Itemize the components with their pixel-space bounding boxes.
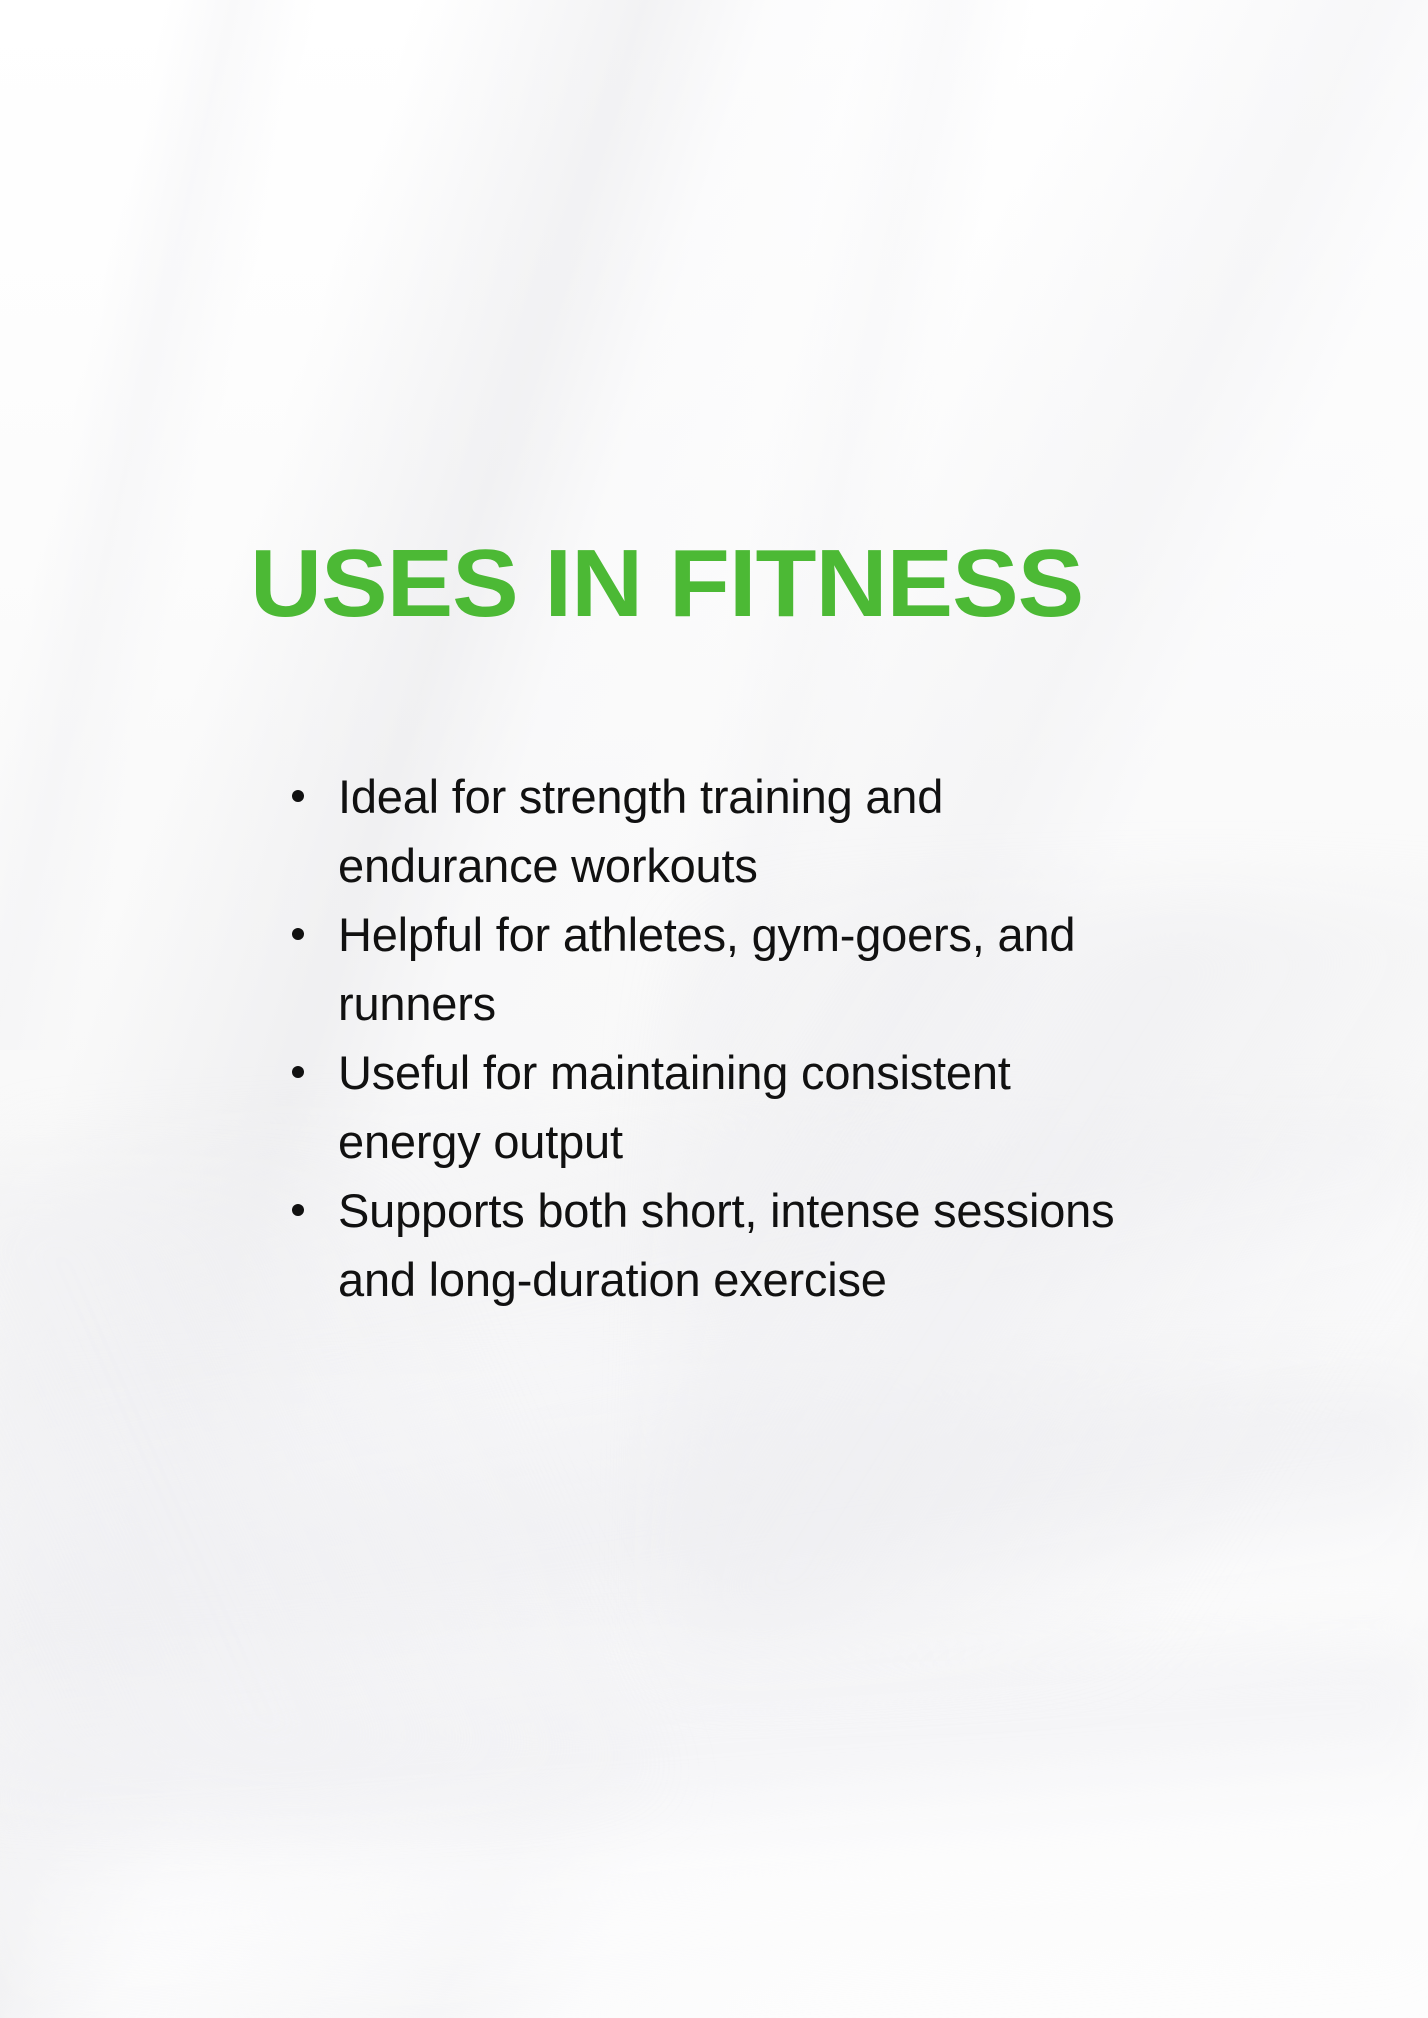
page-title: USES IN FITNESS bbox=[250, 536, 1083, 632]
bullet-dot-icon bbox=[292, 790, 304, 802]
list-item-label: Supports both short, intense sessions an… bbox=[338, 1184, 1114, 1306]
list-item: Useful for maintaining consistent energy… bbox=[292, 1038, 1152, 1176]
bullet-dot-icon bbox=[292, 1066, 304, 1078]
list-item: Supports both short, intense sessions an… bbox=[292, 1176, 1152, 1314]
slide-canvas: USES IN FITNESS Ideal for strength train… bbox=[0, 0, 1428, 2018]
fitness-uses-list: Ideal for strength training and enduranc… bbox=[292, 762, 1152, 1314]
list-item-label: Useful for maintaining consistent energy… bbox=[338, 1046, 1011, 1168]
list-item-label: Helpful for athletes, gym-goers, and run… bbox=[338, 908, 1075, 1030]
bullet-dot-icon bbox=[292, 1204, 304, 1216]
list-item-label: Ideal for strength training and enduranc… bbox=[338, 770, 943, 892]
bullet-dot-icon bbox=[292, 928, 304, 940]
list-item: Ideal for strength training and enduranc… bbox=[292, 762, 1152, 900]
list-item: Helpful for athletes, gym-goers, and run… bbox=[292, 900, 1152, 1038]
